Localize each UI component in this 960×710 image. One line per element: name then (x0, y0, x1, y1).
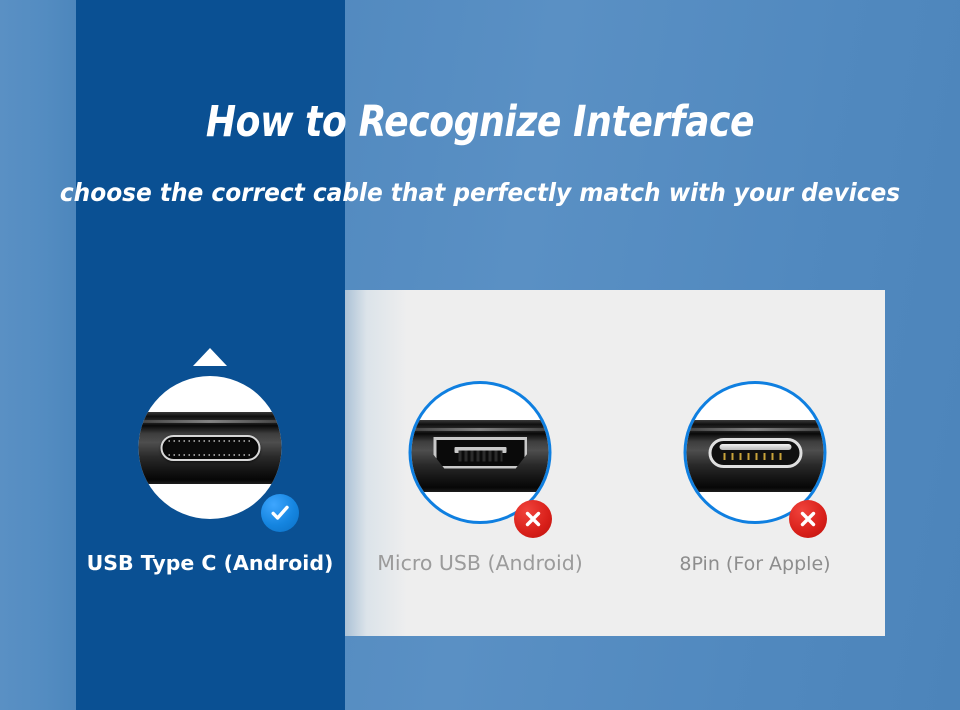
check-icon (261, 494, 299, 532)
cross-icon (789, 500, 827, 538)
background-left-edge (0, 0, 76, 710)
micro-usb-port (433, 437, 527, 469)
connector-label-usb-type-c: USB Type C (Android) (75, 551, 345, 575)
micro-usb-pins (458, 450, 502, 461)
infographic-banner: How to Recognize Interface choose the co… (0, 0, 960, 710)
plug-highlight (684, 428, 827, 431)
8pin-shell-highlight (719, 444, 791, 450)
8pin-port (708, 438, 802, 468)
triangle-up-icon (193, 348, 227, 366)
plug-highlight (409, 428, 552, 431)
connector-label-8pin: 8Pin (For Apple) (665, 553, 845, 575)
connector-photo-usb-type-c (139, 376, 282, 519)
8pin-gold-pins (723, 453, 787, 460)
page-subtitle: choose the correct cable that perfectly … (34, 178, 927, 207)
usb-type-c-pins (168, 440, 252, 456)
cross-icon (514, 500, 552, 538)
plug-highlight (139, 420, 282, 423)
page-title: How to Recognize Interface (77, 100, 883, 145)
usb-type-c-port (160, 435, 260, 461)
connector-label-micro-usb: Micro USB (Android) (370, 551, 590, 575)
